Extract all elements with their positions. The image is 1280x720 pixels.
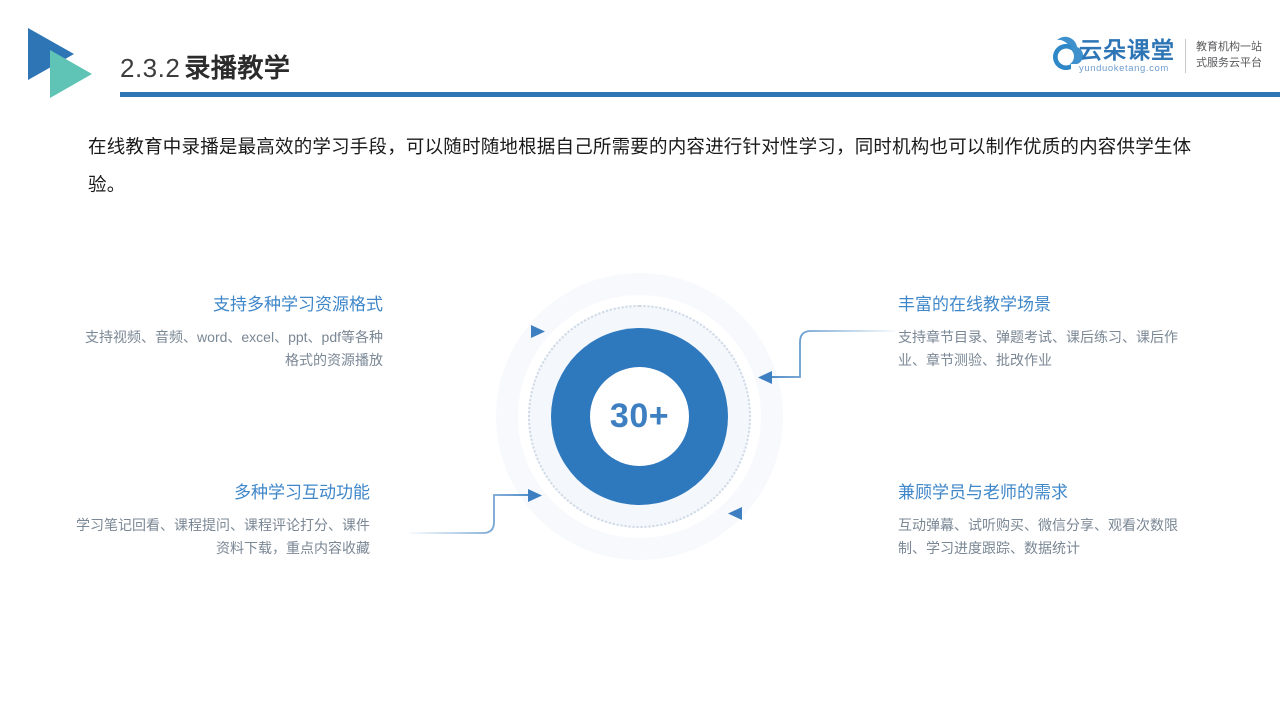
brand-tagline-line1: 教育机构一站: [1196, 40, 1262, 56]
feature-description: 支持章节目录、弹题考试、课后练习、课后作业、章节测验、批改作业: [898, 326, 1198, 372]
cloud-icon: [1037, 36, 1083, 76]
section-title: 录播教学: [184, 53, 290, 83]
feature-title: 支持多种学习资源格式: [83, 294, 383, 316]
feature-top-right: 丰富的在线教学场景 支持章节目录、弹题考试、课后练习、课后作业、章节测验、批改作…: [898, 294, 1198, 372]
feature-top-left: 支持多种学习资源格式 支持视频、音频、word、excel、ppt、pdf等各种…: [83, 294, 383, 372]
center-count-value: 30+: [610, 397, 669, 436]
intro-paragraph: 在线教育中录播是最高效的学习手段，可以随时随地根据自己所需要的内容进行针对性学习…: [88, 128, 1218, 204]
double-triangle-play-logo-icon: [28, 28, 102, 100]
brand-text: 云朵课堂 yunduoketang.com: [1079, 38, 1175, 75]
brand-name: 云朵课堂: [1079, 38, 1175, 62]
brand-url: yunduoketang.com: [1079, 63, 1175, 74]
feature-description: 互动弹幕、试听购买、微信分享、观看次数限制、学习进度跟踪、数据统计: [898, 514, 1198, 560]
circle-center: 30+: [590, 367, 689, 466]
feature-description: 支持视频、音频、word、excel、ppt、pdf等各种格式的资源播放: [83, 326, 383, 372]
triangle-teal-icon: [50, 50, 92, 98]
feature-title: 多种学习互动功能: [70, 482, 370, 504]
feature-title: 丰富的在线教学场景: [898, 294, 1198, 316]
title-underline-rule: [120, 92, 1280, 97]
brand-tagline-line2: 式服务云平台: [1196, 56, 1262, 72]
page-header: 2.3.2录播教学 云朵课堂 yunduoketang.com 教育机构一站 式…: [0, 0, 1280, 110]
feature-bottom-right: 兼顾学员与老师的需求 互动弹幕、试听购买、微信分享、观看次数限制、学习进度跟踪、…: [898, 482, 1198, 560]
feature-bottom-left: 多种学习互动功能 学习笔记回看、课程提问、课程评论打分、课件资料下载，重点内容收…: [70, 482, 370, 560]
brand-tagline: 教育机构一站 式服务云平台: [1196, 40, 1262, 72]
feature-title: 兼顾学员与老师的需求: [898, 482, 1198, 504]
feature-description: 学习笔记回看、课程提问、课程评论打分、课件资料下载，重点内容收藏: [70, 514, 370, 560]
brand-logo: 云朵课堂 yunduoketang.com 教育机构一站 式服务云平台: [1037, 32, 1262, 80]
brand-divider: [1185, 39, 1186, 73]
section-number: 2.3.2: [120, 53, 180, 83]
page-title: 2.3.2录播教学: [120, 48, 290, 85]
